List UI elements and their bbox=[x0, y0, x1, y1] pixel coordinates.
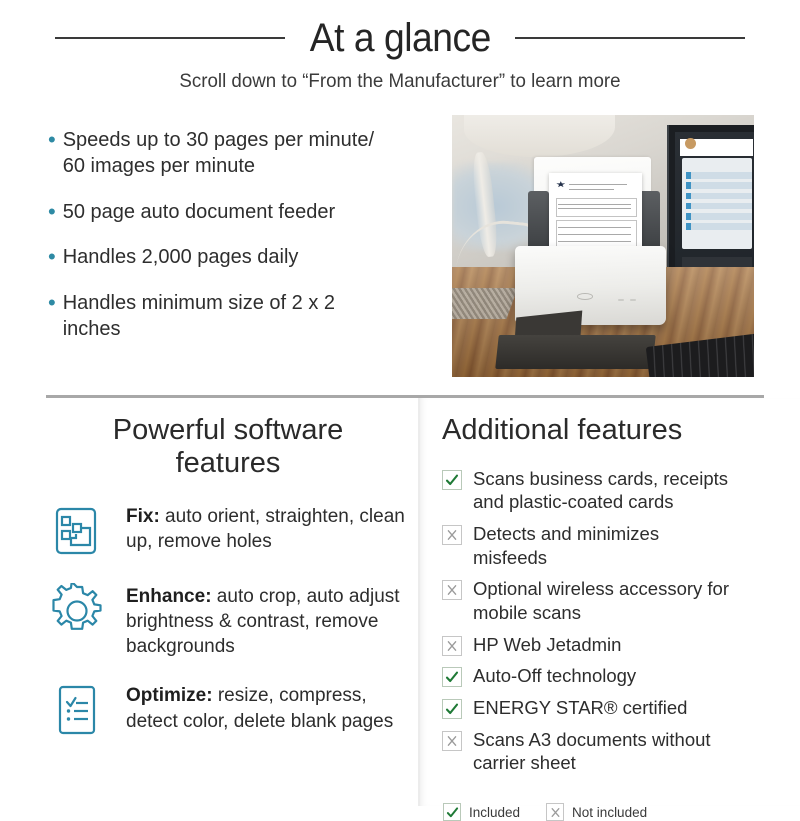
list-item: Detects and minimizes misfeeds bbox=[442, 522, 782, 569]
page-subtitle: Scroll down to “From the Manufacturer” t… bbox=[16, 70, 784, 93]
cross-icon bbox=[442, 731, 462, 751]
photo-screen-row bbox=[686, 213, 753, 220]
photo-screen-row bbox=[686, 223, 753, 230]
checklist-document-icon bbox=[48, 681, 106, 739]
photo-scanner-button bbox=[618, 299, 624, 301]
photo-document-line bbox=[558, 208, 631, 209]
cross-icon bbox=[442, 580, 462, 600]
photo-screen-panel bbox=[682, 158, 752, 250]
feature-label: Optimize: bbox=[126, 685, 213, 706]
bullet-icon: • bbox=[48, 244, 56, 270]
additional-feature-text: Detects and minimizes misfeeds bbox=[473, 522, 735, 569]
bullet-icon: • bbox=[48, 290, 56, 316]
software-features-heading: Powerful software features bbox=[44, 414, 412, 480]
photo-document-line bbox=[558, 227, 631, 228]
check-icon bbox=[443, 803, 461, 821]
photo-document-line bbox=[558, 234, 631, 235]
photo-document-line bbox=[569, 189, 614, 190]
cross-icon bbox=[546, 803, 564, 821]
photo-screen-row bbox=[686, 182, 753, 189]
product-photo bbox=[452, 115, 754, 377]
additional-features-list: Scans business cards, receipts and plast… bbox=[442, 467, 782, 775]
photo-screen-row bbox=[686, 193, 753, 200]
photo-document-logo bbox=[556, 181, 565, 188]
list-item: • Speeds up to 30 pages per minute/ 60 i… bbox=[48, 127, 398, 180]
title-rule-right bbox=[515, 37, 745, 39]
additional-feature-text: HP Web Jetadmin bbox=[473, 633, 621, 657]
photo-document-line bbox=[558, 241, 631, 242]
photo-hp-logo bbox=[577, 293, 593, 300]
photo-document-line bbox=[569, 184, 627, 185]
cross-icon bbox=[442, 525, 462, 545]
list-item: ENERGY STAR® certified bbox=[442, 696, 782, 720]
bottom-section: Powerful software features Fix: auto ori… bbox=[0, 398, 800, 806]
list-item: Scans business cards, receipts and plast… bbox=[442, 467, 782, 514]
additional-feature-text: Optional wireless accessory for mobile s… bbox=[473, 577, 735, 624]
feature-row-fix: Fix: auto orient, straighten, clean up, … bbox=[44, 502, 412, 560]
software-features-column: Powerful software features Fix: auto ori… bbox=[0, 398, 418, 806]
feature-label: Fix: bbox=[126, 506, 160, 527]
gear-icon bbox=[48, 582, 106, 640]
spec-text: Handles 2,000 pages daily bbox=[63, 244, 299, 270]
title-rule-left bbox=[55, 37, 285, 39]
page-header: At a glance Scroll down to “From the Man… bbox=[0, 0, 800, 93]
spec-text: Speeds up to 30 pages per minute/ 60 ima… bbox=[63, 127, 398, 180]
feature-text-enhance: Enhance: auto crop, auto adjust brightne… bbox=[126, 582, 412, 660]
feature-text-optimize: Optimize: resize, compress, detect color… bbox=[126, 681, 412, 734]
additional-feature-text: Scans A3 documents without carrier sheet bbox=[473, 728, 735, 775]
additional-feature-text: Auto-Off technology bbox=[473, 664, 636, 688]
photo-screen-row bbox=[686, 203, 753, 210]
additional-features-heading: Additional features bbox=[442, 414, 782, 447]
bullet-icon: • bbox=[48, 127, 56, 153]
list-item: Auto-Off technology bbox=[442, 664, 782, 688]
legend: Included Not included bbox=[442, 803, 782, 821]
check-icon bbox=[442, 699, 462, 719]
additional-feature-text: Scans business cards, receipts and plast… bbox=[473, 467, 735, 514]
photo-screen-avatar bbox=[685, 138, 696, 149]
photo-document-line bbox=[558, 204, 631, 205]
legend-not-included-label: Not included bbox=[572, 805, 647, 820]
bullet-icon: • bbox=[48, 199, 56, 225]
spec-list: • Speeds up to 30 pages per minute/ 60 i… bbox=[48, 115, 442, 377]
photo-desk-mat bbox=[452, 288, 518, 319]
photo-output-tray bbox=[496, 335, 657, 369]
cross-icon bbox=[442, 636, 462, 656]
check-icon bbox=[442, 470, 462, 490]
list-item: HP Web Jetadmin bbox=[442, 633, 782, 657]
list-item: • 50 page auto document feeder bbox=[48, 199, 398, 225]
top-section: • Speeds up to 30 pages per minute/ 60 i… bbox=[0, 115, 800, 377]
title-row: At a glance bbox=[0, 18, 800, 58]
list-item: • Handles minimum size of 2 x 2 inches bbox=[48, 290, 398, 343]
page-title: At a glance bbox=[309, 18, 490, 58]
list-item: Optional wireless accessory for mobile s… bbox=[442, 577, 782, 624]
feature-row-enhance: Enhance: auto crop, auto adjust brightne… bbox=[44, 582, 412, 660]
feature-row-optimize: Optimize: resize, compress, detect color… bbox=[44, 681, 412, 739]
additional-feature-text: ENERGY STAR® certified bbox=[473, 696, 687, 720]
feature-description: auto orient, straighten, clean up, remov… bbox=[126, 506, 405, 552]
feature-label: Enhance: bbox=[126, 586, 212, 607]
feature-text-fix: Fix: auto orient, straighten, clean up, … bbox=[126, 502, 412, 555]
spec-text: Handles minimum size of 2 x 2 inches bbox=[63, 290, 398, 343]
photo-scanner-button bbox=[630, 299, 636, 301]
photo-scanner-body bbox=[515, 246, 666, 325]
spec-text: 50 page auto document feeder bbox=[63, 199, 335, 225]
photo-screen-row bbox=[686, 172, 753, 179]
legend-included-label: Included bbox=[469, 805, 520, 820]
list-item: • Handles 2,000 pages daily bbox=[48, 244, 398, 270]
additional-features-column: Additional features Scans business cards… bbox=[418, 398, 800, 806]
list-item: Scans A3 documents without carrier sheet bbox=[442, 728, 782, 775]
document-fix-icon bbox=[48, 502, 106, 560]
check-icon bbox=[442, 667, 462, 687]
